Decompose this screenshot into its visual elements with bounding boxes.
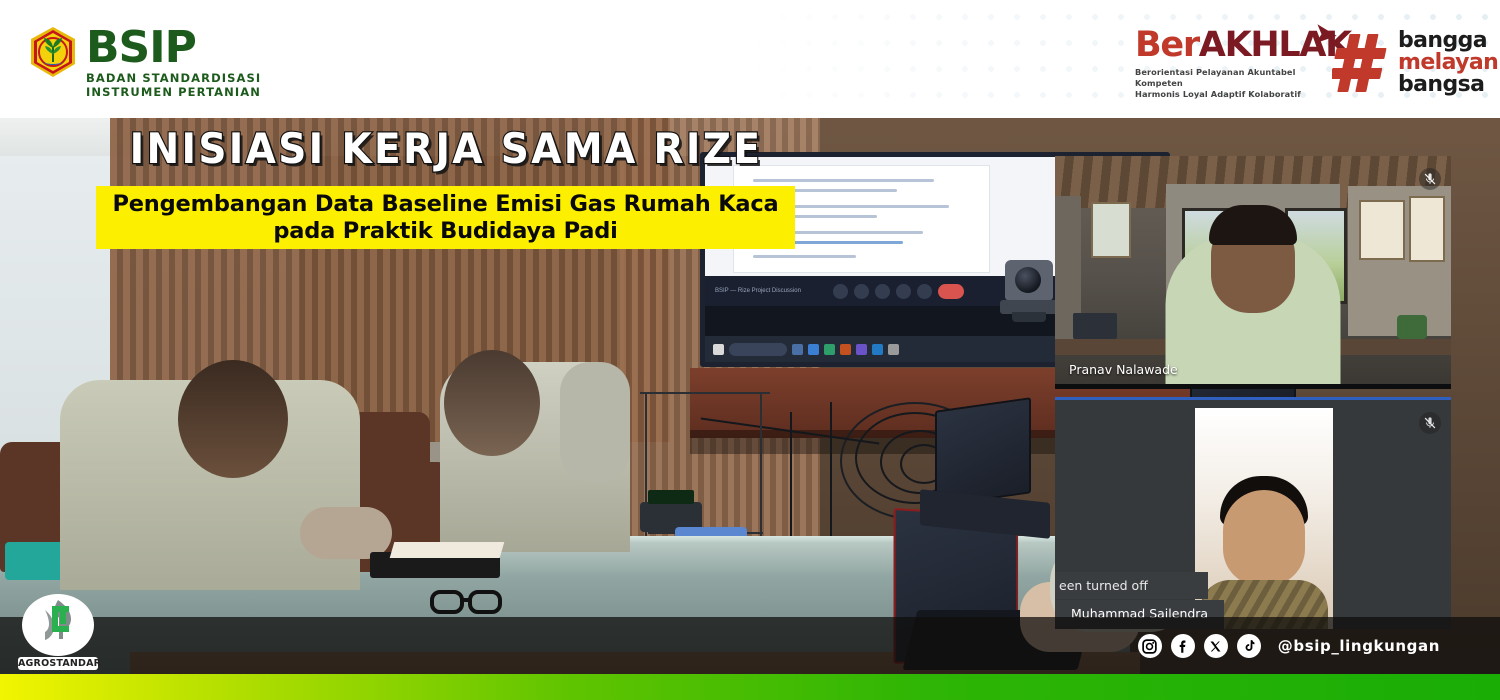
berakhlak-tagline-line1: Berorientasi Pelayanan Akuntabel Kompete… [1135, 67, 1325, 89]
mic-muted-icon[interactable] [1419, 168, 1441, 190]
subtitle-banner: Pengembangan Data Baseline Emisi Gas Rum… [96, 186, 795, 249]
bangga-line3: bangsa [1398, 74, 1500, 96]
subtitle-line1: Pengembangan Data Baseline Emisi Gas Rum… [112, 191, 778, 217]
agrostandar-logo: AGROSTANDAR [22, 594, 94, 670]
bsip-wordmark: BSIP [86, 28, 261, 68]
headline-text: INISIASI KERJA SAMA RIZE [121, 128, 772, 170]
screen-off-tooltip: een turned off [1055, 572, 1208, 599]
video-tile-sailendra[interactable]: een turned off Muhammad Sailendra [1055, 397, 1451, 629]
bangga-line1: bangga [1398, 30, 1500, 52]
social-handle: @bsip_lingkungan [1278, 637, 1440, 655]
participant-name-label: Pranav Nalawade [1069, 362, 1178, 377]
facebook-icon[interactable] [1171, 634, 1195, 658]
bangga-melayani-bangsa-logo: bangga melayani bangsa [1332, 30, 1500, 96]
bottom-gradient-bar [0, 674, 1500, 700]
agrostandar-label: AGROSTANDAR [18, 657, 98, 670]
poster-header: BSIP BADAN STANDARDISASI INSTRUMEN PERTA… [0, 0, 1500, 118]
subtitle-line2: pada Praktik Budidaya Padi [273, 218, 617, 244]
bsip-subtitle-line2: INSTRUMEN PERTANIAN [86, 85, 261, 99]
display-meeting-label: BSIP — Rize Project Discussion [715, 288, 801, 294]
bsip-subtitle-line1: BADAN STANDARDISASI [86, 71, 261, 85]
bangga-line2: melayani [1398, 52, 1500, 74]
bsip-logo: BSIP BADAN STANDARDISASI INSTRUMEN PERTA… [28, 26, 261, 100]
poster-canvas: BSIP — Rize Project Discussion [0, 0, 1500, 700]
mic-muted-icon[interactable] [1419, 412, 1441, 434]
berakhlak-prefix: Ber [1135, 25, 1199, 65]
x-twitter-icon[interactable] [1204, 634, 1228, 658]
berakhlak-logo: BerAKHLAK ➤ Berorientasi Pelayanan Akunt… [1135, 28, 1325, 99]
social-footer-band: @bsip_lingkungan [0, 617, 1500, 675]
rice-plant-emblem-icon [28, 26, 78, 78]
video-tile-pranav[interactable]: Pranav Nalawade [1055, 156, 1451, 385]
instagram-icon[interactable] [1138, 634, 1162, 658]
poster-headline: INISIASI KERJA SAMA RIZE [96, 128, 796, 170]
tiktok-icon[interactable] [1237, 634, 1261, 658]
hash-icon [1332, 32, 1392, 94]
berakhlak-tagline-line2: Harmonis Loyal Adaptif Kolaboratif [1135, 89, 1325, 100]
